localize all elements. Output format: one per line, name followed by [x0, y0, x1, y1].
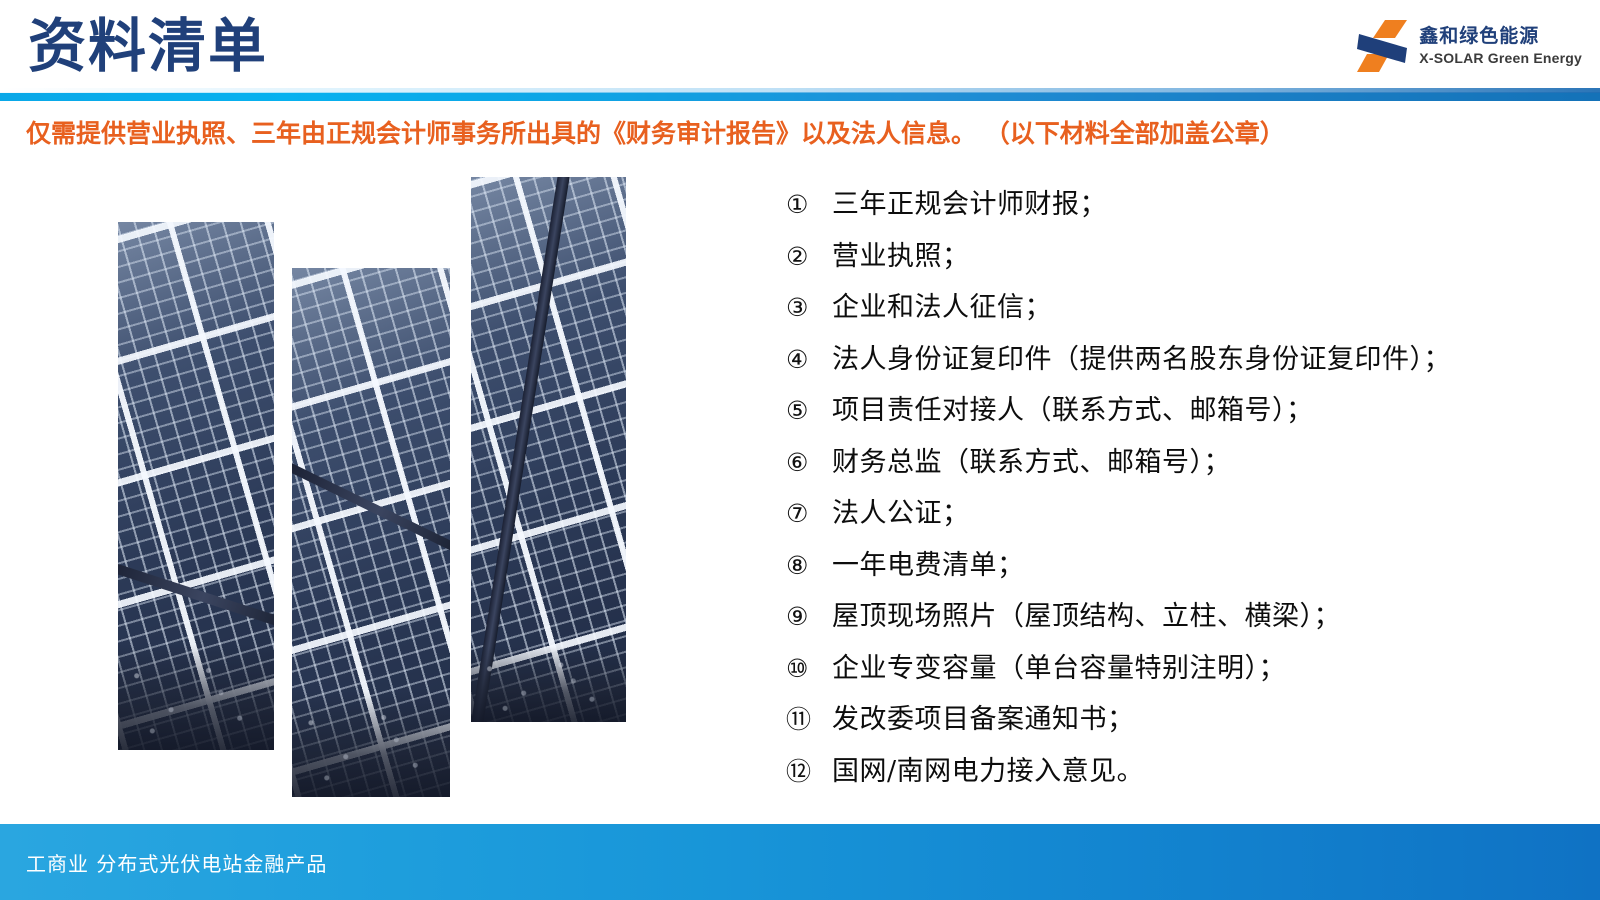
logo-text-block: 鑫和绿色能源 X-SOLAR Green Energy — [1419, 26, 1582, 66]
list-item: ① 三年正规会计师财报； — [786, 182, 1586, 234]
list-item-number: ④ — [786, 345, 832, 374]
list-item: ⑥ 财务总监（联系方式、邮箱号）； — [786, 440, 1586, 492]
brand-logo: 鑫和绿色能源 X-SOLAR Green Energy — [1355, 18, 1582, 74]
list-item-number: ⑩ — [786, 654, 832, 683]
list-item-label: 财务总监（联系方式、邮箱号）； — [832, 440, 1231, 479]
list-item: ⑩ 企业专变容量（单台容量特别注明）； — [786, 646, 1586, 698]
photo-2-gravel-roof — [292, 691, 450, 797]
list-item: ⑫ 国网/南网电力接入意见。 — [786, 749, 1586, 801]
list-item-number: ⑤ — [786, 396, 832, 425]
list-item-number: ⑨ — [786, 602, 832, 631]
footer-bar: 工商业 分布式光伏电站金融产品 — [0, 824, 1600, 900]
list-item-number: ③ — [786, 293, 832, 322]
photo-3-gravel-roof — [471, 646, 626, 722]
slide-root: 资料清单 鑫和绿色能源 X-SOLAR Green Energy 仅需提供营业执… — [0, 0, 1600, 900]
list-item-number: ⑦ — [786, 499, 832, 528]
logo-mark-svg — [1355, 18, 1409, 74]
page-title: 资料清单 — [28, 8, 268, 84]
list-item-label: 屋顶现场照片（屋顶结构、立柱、横梁）； — [832, 594, 1341, 633]
list-item-label: 企业和法人征信； — [832, 285, 1052, 324]
photo-1-gravel-roof — [118, 644, 274, 750]
list-item-number: ① — [786, 190, 832, 219]
list-item-label: 法人身份证复印件（提供两名股东身份证复印件）； — [832, 337, 1451, 376]
list-item-label: 营业执照； — [832, 234, 970, 273]
logo-company-en: X-SOLAR Green Energy — [1419, 50, 1582, 66]
list-item-label: 三年正规会计师财报； — [832, 182, 1107, 221]
list-item-label: 一年电费清单； — [832, 543, 1025, 582]
list-item-label: 企业专变容量（单台容量特别注明）； — [832, 646, 1286, 685]
list-item: ⑧ 一年电费清单； — [786, 543, 1586, 595]
list-item: ⑦ 法人公证； — [786, 491, 1586, 543]
solar-photo-1 — [118, 222, 274, 750]
list-item: ⑤ 项目责任对接人（联系方式、邮箱号）； — [786, 388, 1586, 440]
list-item-number: ⑪ — [786, 700, 832, 736]
list-item-label: 项目责任对接人（联系方式、邮箱号）； — [832, 388, 1314, 427]
list-item: ⑪ 发改委项目备案通知书； — [786, 697, 1586, 749]
solar-photo-2 — [292, 268, 450, 797]
header-divider-rule — [0, 92, 1600, 101]
solar-photo-3 — [471, 177, 626, 722]
footer-label: 工商业 分布式光伏电站金融产品 — [26, 848, 327, 877]
subtitle-note: 仅需提供营业执照、三年由正规会计师事务所出具的《财务审计报告》以及法人信息。 （… — [26, 114, 1285, 150]
list-item-number: ⑫ — [786, 752, 832, 788]
list-item-label: 国网/南网电力接入意见。 — [832, 749, 1144, 788]
list-item-label: 法人公证； — [832, 491, 970, 530]
list-item-number: ② — [786, 242, 832, 271]
list-item: ④ 法人身份证复印件（提供两名股东身份证复印件）； — [786, 337, 1586, 389]
list-item: ③ 企业和法人征信； — [786, 285, 1586, 337]
document-requirement-list: ① 三年正规会计师财报； ② 营业执照； ③ 企业和法人征信； ④ 法人身份证复… — [786, 182, 1586, 800]
list-item: ② 营业执照； — [786, 234, 1586, 286]
list-item-number: ⑥ — [786, 448, 832, 477]
list-item-label: 发改委项目备案通知书； — [832, 697, 1135, 736]
list-item-number: ⑧ — [786, 551, 832, 580]
logo-company-cn: 鑫和绿色能源 — [1419, 26, 1582, 48]
x-solar-logo-mark — [1355, 18, 1409, 74]
list-item: ⑨ 屋顶现场照片（屋顶结构、立柱、横梁）； — [786, 594, 1586, 646]
